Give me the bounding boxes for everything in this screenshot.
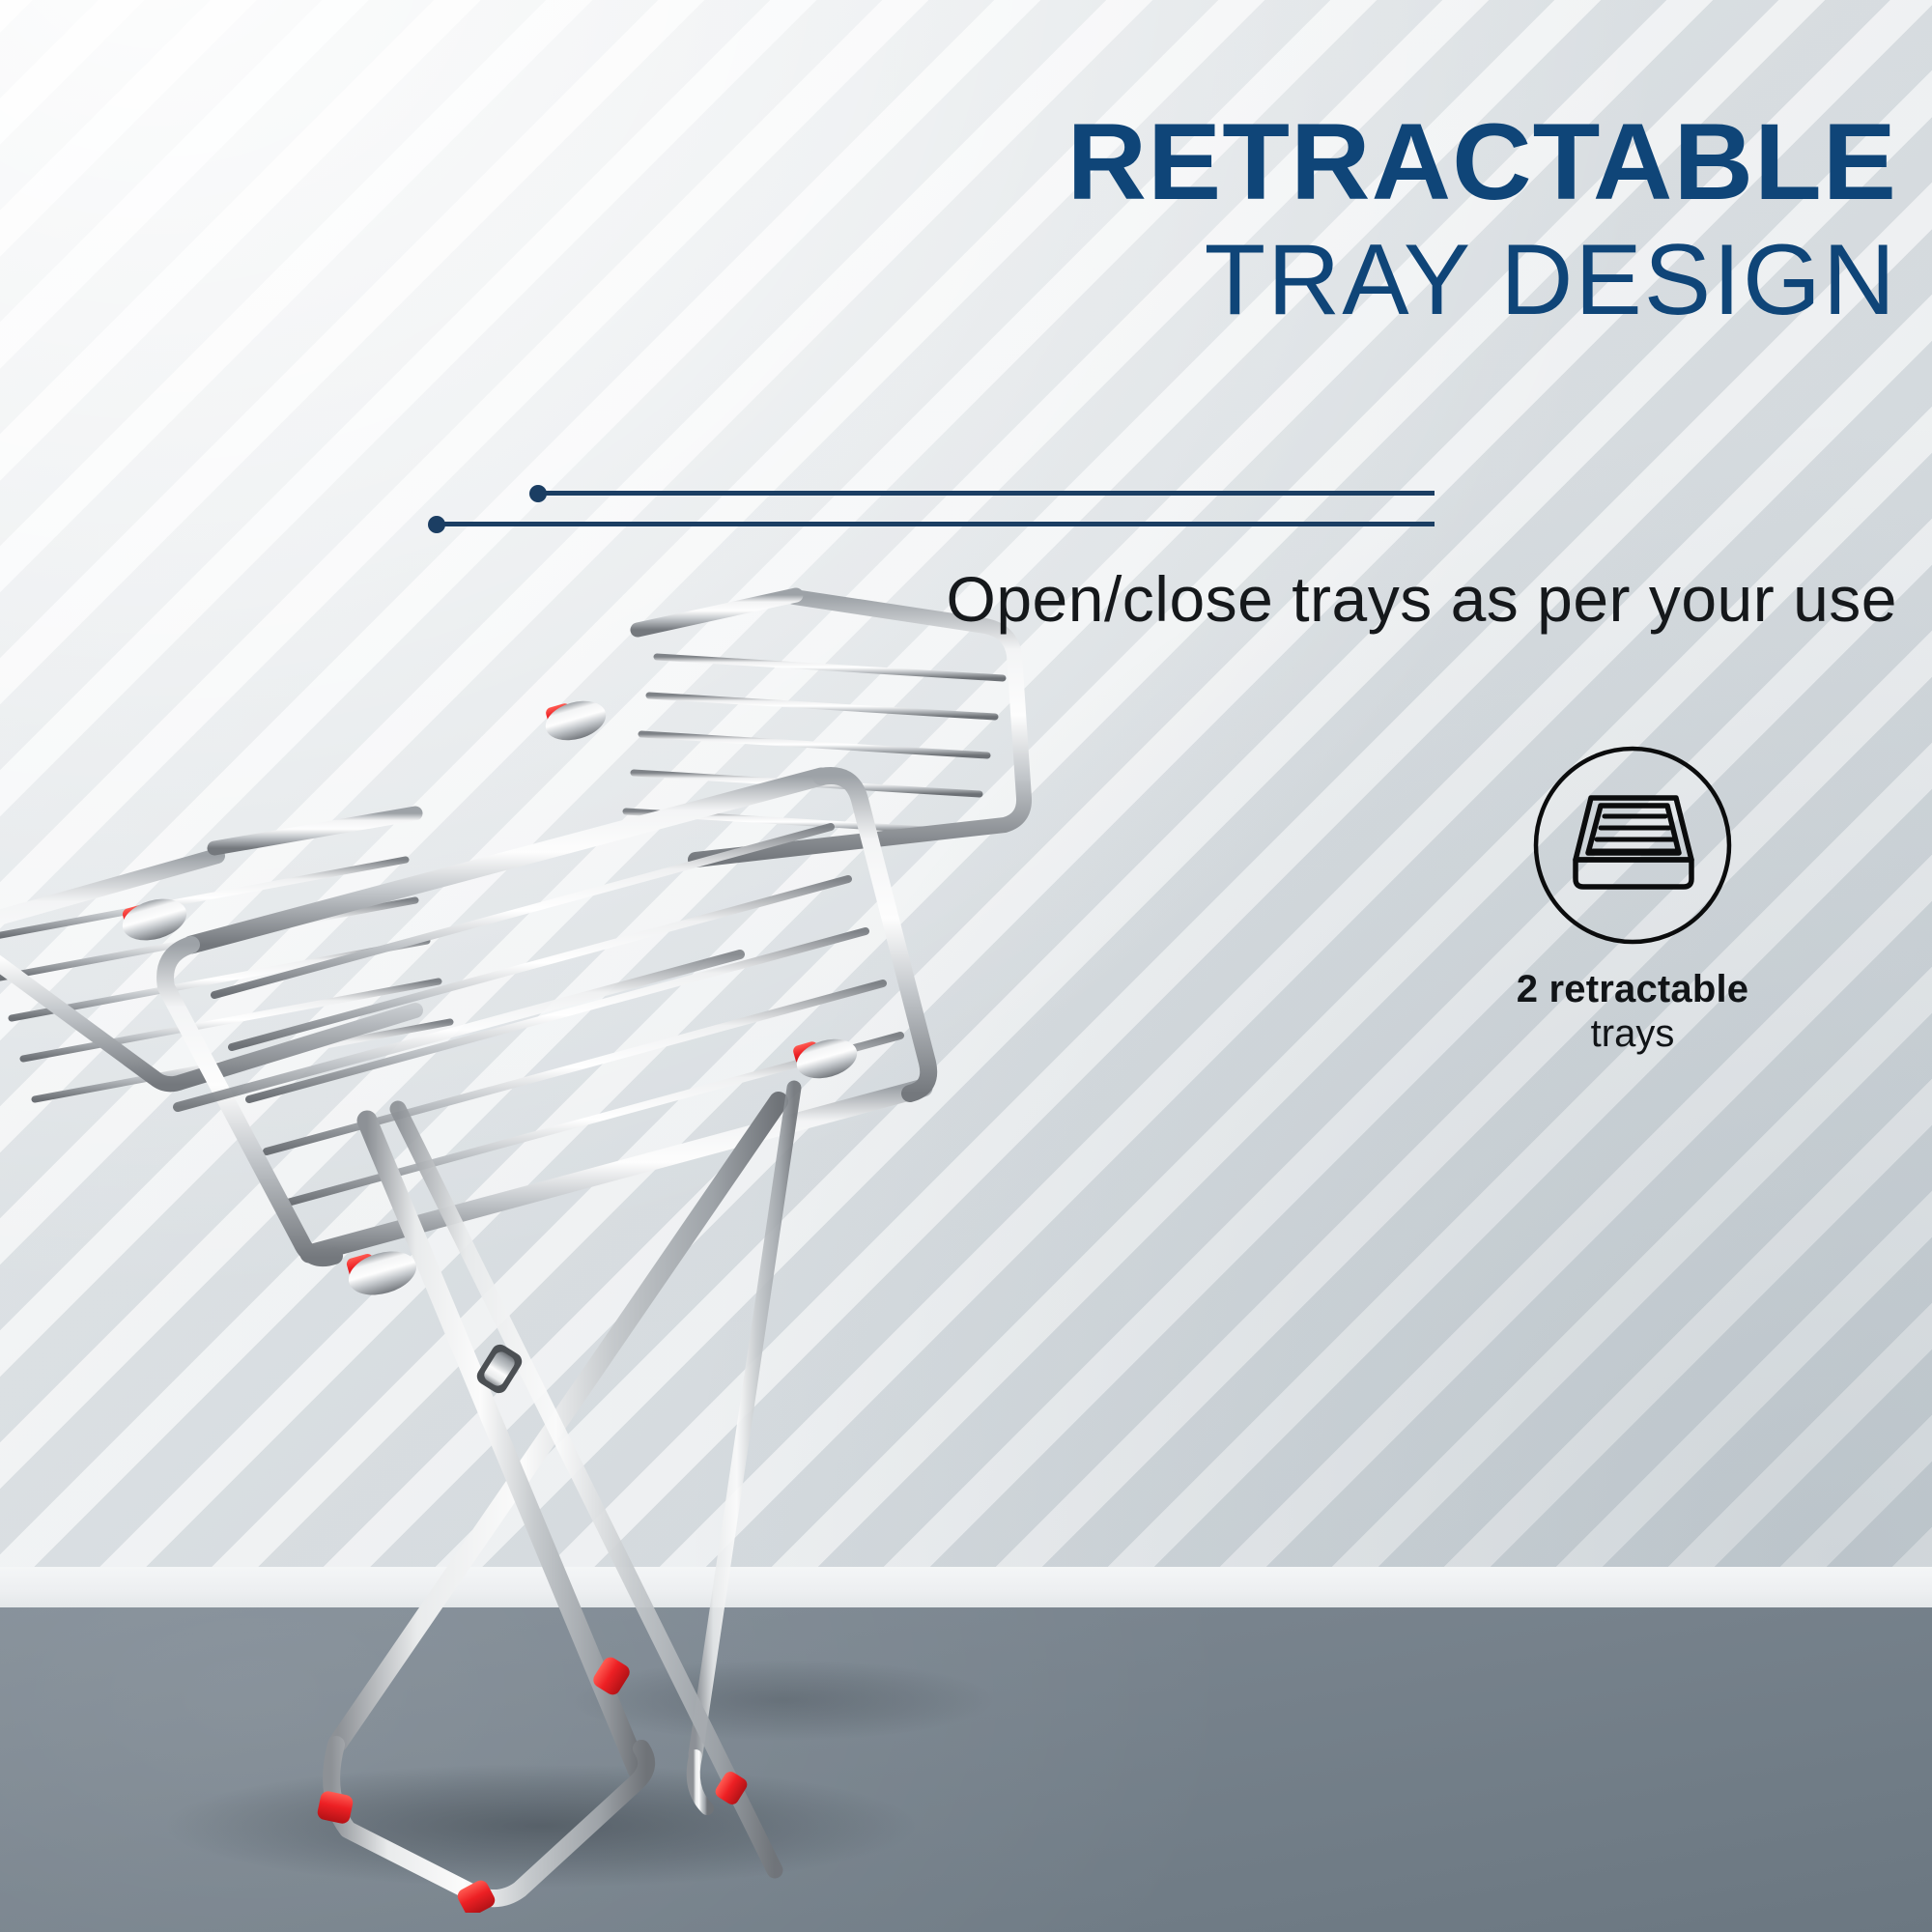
x-frame-legs — [338, 1088, 794, 1870]
product-ground-shadow-2 — [570, 1660, 995, 1741]
center-support-bar — [178, 954, 740, 1107]
product-image — [0, 541, 1101, 1913]
headline-line-2: TRAY DESIGN — [680, 230, 1897, 330]
subtitle-text: Open/close trays as per your use — [651, 562, 1897, 636]
headline-line-1: RETRACTABLE — [656, 108, 1897, 216]
feature-badge: 2 retractable trays — [1488, 744, 1777, 1056]
product-feature-banner: RETRACTABLE TRAY DESIGN Open/close trays… — [0, 0, 1932, 1932]
headline-block: RETRACTABLE TRAY DESIGN — [680, 108, 1897, 330]
badge-caption-regular: trays — [1488, 1012, 1777, 1057]
retractable-tray-icon — [1531, 744, 1734, 947]
badge-caption-bold: 2 retractable — [1488, 968, 1777, 1012]
